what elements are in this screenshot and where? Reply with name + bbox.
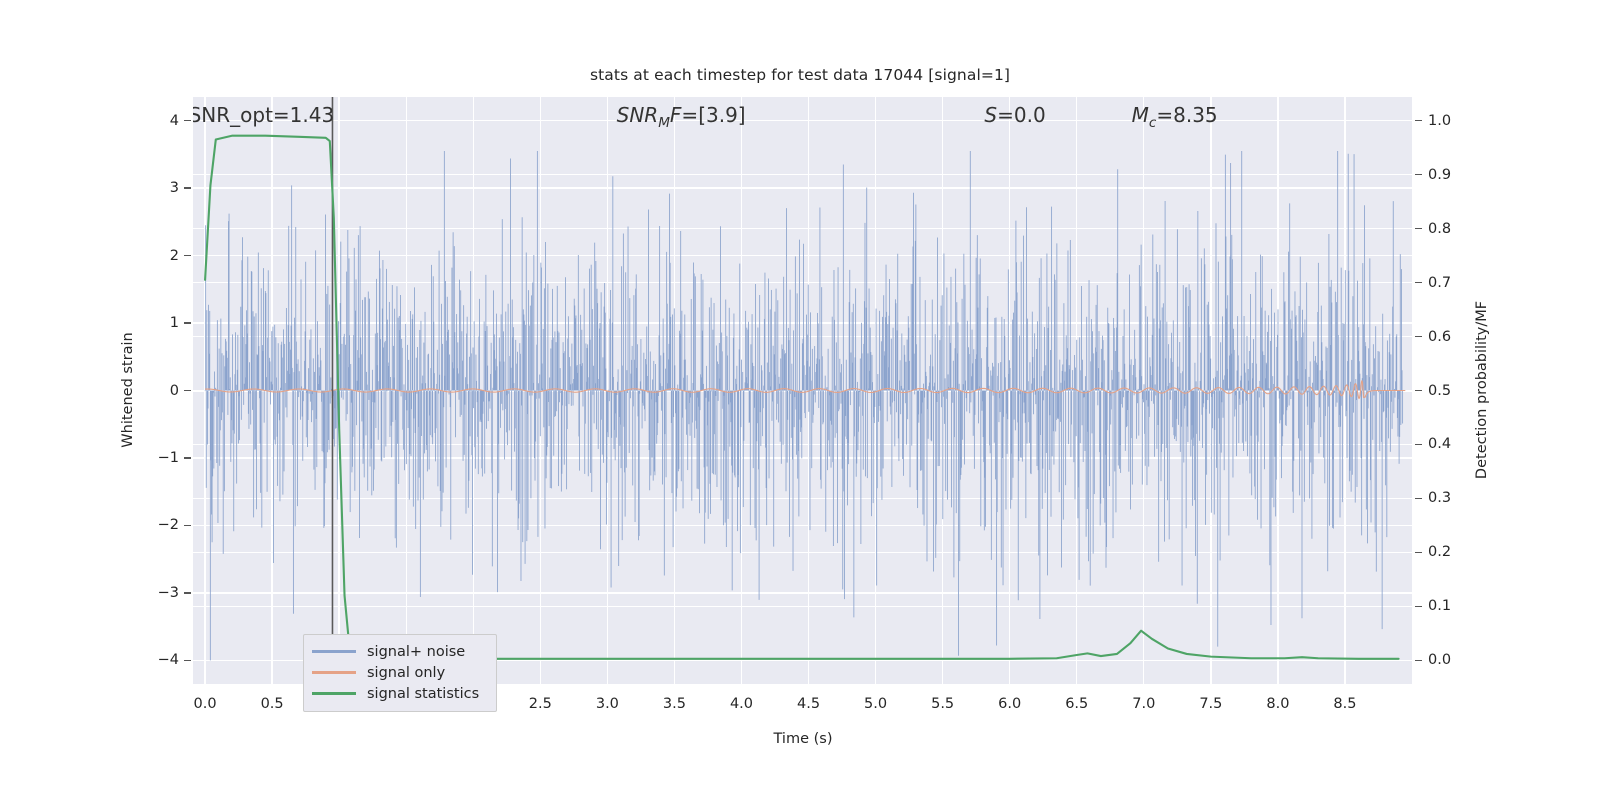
legend-color-swatch	[312, 650, 356, 652]
x-axis-tick-label: 8.0	[1266, 696, 1289, 712]
annotation-snr-opt: SNR_opt=1.43	[193, 103, 334, 127]
y-axis-right-tick-label: 0.1	[1428, 598, 1451, 614]
legend[interactable]: signal+ noisesignal onlysignal statistic…	[303, 634, 497, 712]
y-axis-right-title: Detection probability/MF	[1474, 301, 1490, 479]
tick-mark	[184, 660, 191, 662]
y-axis-right-tick-label: 0.6	[1428, 329, 1451, 345]
x-axis-tick-label: 5.5	[931, 696, 954, 712]
annotation-snr-mf: SNRMF=[3.9]	[617, 103, 746, 131]
annotation-s-stat: S=0.0	[984, 103, 1045, 127]
x-axis-tick-label: 5.0	[864, 696, 887, 712]
x-axis-tick-label: 3.5	[663, 696, 686, 712]
tick-mark	[1415, 444, 1422, 446]
tick-mark	[1415, 390, 1422, 392]
tick-mark	[1415, 174, 1422, 176]
y-axis-right-tick-label: 0.9	[1428, 167, 1451, 183]
y-axis-left-tick-label: −1	[158, 450, 179, 466]
legend-item-label: signal+ noise	[367, 644, 465, 660]
y-axis-left-tick-label: 0	[170, 383, 179, 399]
tick-mark	[184, 187, 191, 189]
tick-mark	[184, 120, 191, 122]
legend-item[interactable]: signal+ noise	[312, 641, 488, 662]
tick-mark	[1415, 282, 1422, 284]
x-axis-tick-label: 3.0	[596, 696, 619, 712]
y-axis-left-tick-label: 3	[170, 180, 179, 196]
tick-mark	[1415, 660, 1422, 662]
y-axis-left-title: Whitened strain	[120, 332, 136, 447]
x-axis-title: Time (s)	[774, 731, 833, 747]
y-axis-right-tick-label: 0.0	[1428, 652, 1451, 668]
y-axis-right-tick-label: 0.3	[1428, 490, 1451, 506]
tick-mark	[184, 255, 191, 257]
x-axis-tick-label: 4.0	[730, 696, 753, 712]
tick-mark	[184, 457, 191, 459]
legend-item-label: signal only	[367, 665, 445, 681]
y-axis-left-tick-label: 1	[170, 315, 179, 331]
legend-item[interactable]: signal statistics	[312, 683, 488, 704]
tick-mark	[1415, 228, 1422, 230]
x-axis-tick-label: 2.5	[529, 696, 552, 712]
x-axis-tick-label: 0.5	[261, 696, 284, 712]
tick-mark	[1415, 120, 1422, 122]
annotation-chirp-mass: Mc=8.35	[1132, 103, 1218, 131]
tick-mark	[184, 525, 191, 527]
x-axis-tick-label: 0.0	[194, 696, 217, 712]
y-axis-left-tick-label: −3	[158, 585, 179, 601]
series-signal-plus-noise	[205, 151, 1403, 660]
y-axis-right-tick-label: 0.7	[1428, 275, 1451, 291]
tick-mark	[1415, 336, 1422, 338]
x-axis-tick-label: 7.5	[1199, 696, 1222, 712]
y-axis-right-tick-label: 0.2	[1428, 544, 1451, 560]
y-axis-left-tick-label: −4	[158, 652, 179, 668]
y-axis-right-tick-label: 1.0	[1428, 113, 1451, 129]
tick-mark	[184, 390, 191, 392]
y-axis-right-tick-label: 0.4	[1428, 436, 1451, 452]
x-axis-tick-label: 6.5	[1065, 696, 1088, 712]
legend-color-swatch	[312, 692, 356, 694]
plot-axes: SNR_opt=1.43SNRMF=[3.9]S=0.0Mc=8.35	[193, 97, 1412, 684]
legend-item[interactable]: signal only	[312, 662, 488, 683]
x-axis-tick-label: 4.5	[797, 696, 820, 712]
legend-item-label: signal statistics	[367, 686, 479, 702]
tick-mark	[184, 322, 191, 324]
tick-mark	[1415, 552, 1422, 554]
page-title: stats at each timestep for test data 170…	[0, 66, 1600, 84]
matplotlib-figure: stats at each timestep for test data 170…	[0, 0, 1600, 800]
tick-mark	[184, 592, 191, 594]
tick-mark	[1415, 606, 1422, 608]
tick-mark	[1415, 498, 1422, 500]
x-axis-tick-label: 7.0	[1132, 696, 1155, 712]
legend-color-swatch	[312, 671, 356, 673]
x-axis-tick-label: 8.5	[1333, 696, 1356, 712]
data-layer	[193, 97, 1412, 684]
y-axis-left-tick-label: 4	[170, 113, 179, 129]
series-svg	[193, 97, 1412, 684]
x-axis-tick-label: 6.0	[998, 696, 1021, 712]
y-axis-left-tick-label: 2	[170, 248, 179, 264]
y-axis-right-tick-label: 0.5	[1428, 383, 1451, 399]
y-axis-left-tick-label: −2	[158, 517, 179, 533]
y-axis-right-tick-label: 0.8	[1428, 221, 1451, 237]
